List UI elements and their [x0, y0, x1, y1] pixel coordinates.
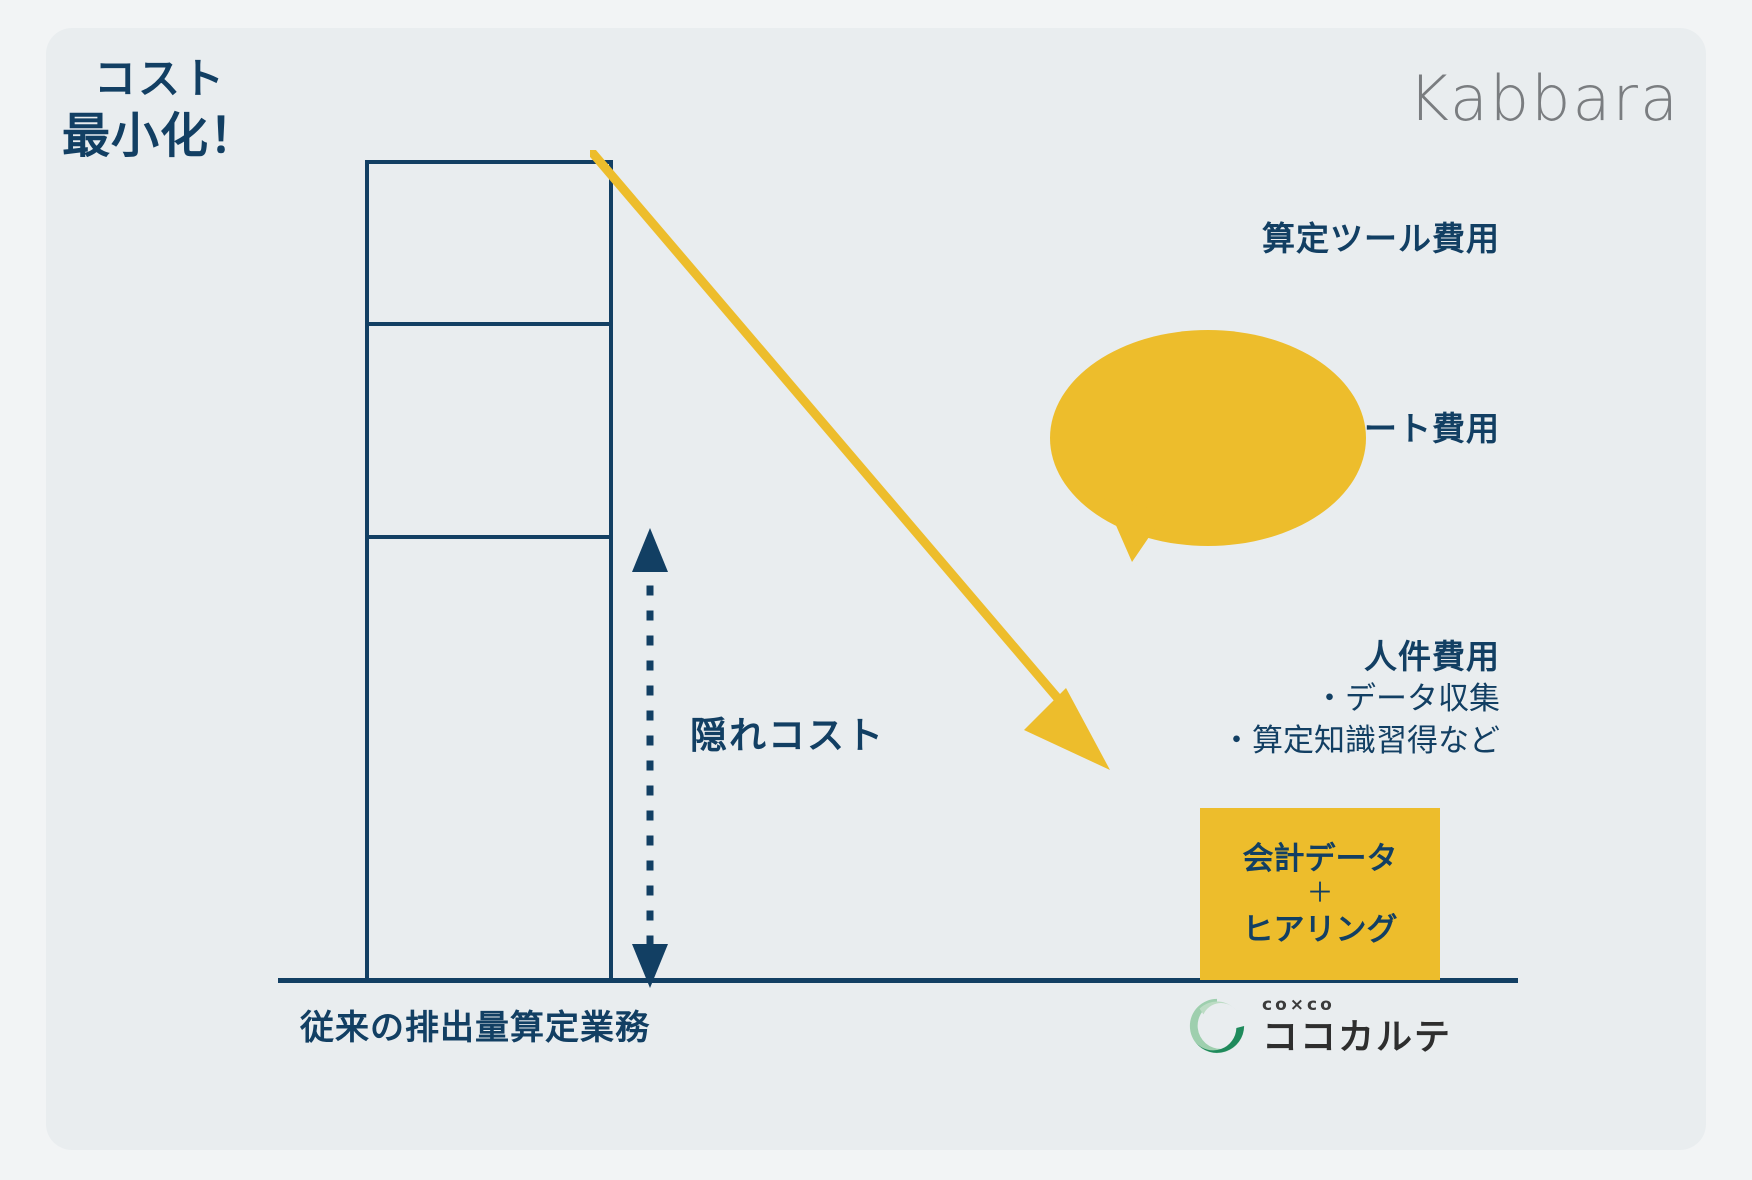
- bar-label-labor-sub-1: ・データ収集: [1221, 678, 1500, 720]
- hidden-cost-label: 隠れコスト: [690, 705, 885, 759]
- bar-segment-tool-cost: [365, 160, 613, 322]
- bar-label-tool-cost: 算定ツール費用: [1262, 212, 1500, 260]
- bar-segment-support-cost: [365, 322, 613, 535]
- cococarte-name: ココカルテ: [1262, 1019, 1452, 1055]
- chart-caption-left: 従来の排出量算定業務: [300, 1000, 650, 1049]
- bar-label-labor-sub-2: ・算定知識習得など: [1221, 720, 1500, 762]
- bar-label-labor-cost-text: 人件費用: [1221, 630, 1500, 678]
- result-box: 会計データ ＋ ヒアリング: [1200, 808, 1440, 980]
- stacked-bar-chart: [365, 160, 613, 978]
- result-line-2: ＋: [1307, 879, 1334, 909]
- cococarte-wordmark: co×co ココカルテ: [1262, 997, 1452, 1055]
- bar-label-labor-cost: 人件費用 ・データ収集 ・算定知識習得など: [1221, 630, 1500, 762]
- cococarte-small-text: co×co: [1262, 997, 1452, 1014]
- result-line-3: ヒアリング: [1243, 911, 1398, 948]
- bar-segment-labor-cost: [365, 535, 613, 978]
- diagram-canvas: Kabbara 算定ツール費用 算定サポート費用 人件費用 ・データ収集 ・算定…: [0, 0, 1752, 1180]
- hidden-cost-arrow-icon: [620, 528, 680, 988]
- cococarte-logo: co×co ココカルテ: [1186, 995, 1452, 1057]
- speech-bubble-shape: [1048, 330, 1368, 570]
- result-line-1: 会計データ: [1243, 840, 1398, 877]
- cococarte-swirl-icon: [1186, 995, 1248, 1057]
- brand-wordmark: Kabbara: [1408, 62, 1680, 135]
- bar-label-tool-cost-text: 算定ツール費用: [1262, 212, 1500, 260]
